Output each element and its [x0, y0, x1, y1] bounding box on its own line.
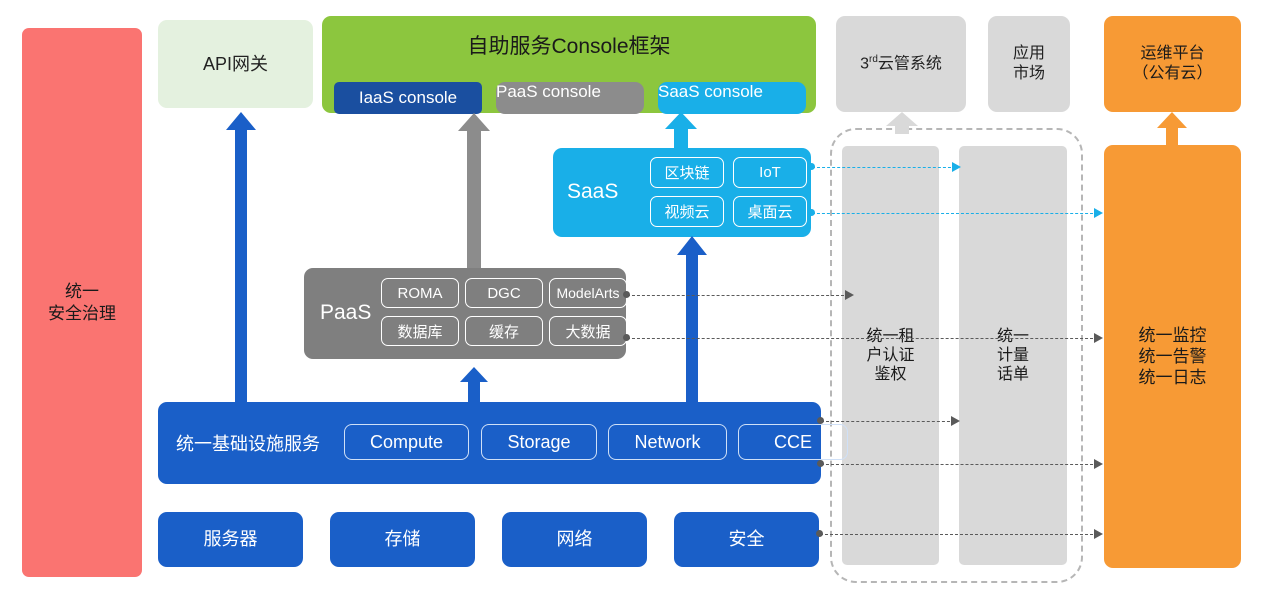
conn-arrow-paas-ops: [1094, 333, 1103, 343]
paas-chip-dgc[interactable]: DGC: [465, 278, 543, 308]
paas-chip-roma-label: ROMA: [398, 285, 443, 302]
app-market-box: 应用 市场: [988, 16, 1070, 112]
paas-console-label: PaaS console: [496, 82, 601, 101]
ops-panel-line3: 统一日志: [1139, 367, 1207, 388]
saas-chip-blockchain[interactable]: 区块链: [650, 157, 724, 188]
third-party-cloud-mgmt-box: 3rd云管系统: [836, 16, 966, 112]
paas-chip-bigdata[interactable]: 大数据: [549, 316, 627, 346]
console-framework-title: 自助服务Console框架: [322, 30, 816, 60]
ops-platform-top-line2: （公有云）: [1132, 64, 1212, 84]
unified-infrastructure-panel: 统一基础设施服务 Compute Storage Network CCE: [158, 402, 821, 484]
arrow-saas-to-console: [663, 112, 699, 150]
saas-chip-desktop-cloud[interactable]: 桌面云: [733, 196, 807, 227]
unified-metering-line1: 统一: [997, 327, 1029, 346]
ops-platform-top-box: 运维平台 （公有云）: [1104, 16, 1241, 112]
unified-infrastructure-label: 统一基础设施服务: [176, 430, 320, 456]
unified-metering-billing-column: 统一 计量 话单: [959, 146, 1067, 565]
infra-chip-compute-label: Compute: [370, 432, 443, 453]
hardware-server-label: 服务器: [204, 528, 258, 551]
security-governance-pillar: 统一 安全治理: [22, 28, 142, 577]
paas-chip-cache[interactable]: 缓存: [465, 316, 543, 346]
conn-line-infra-auth: [821, 421, 955, 422]
paas-chip-cache-label: 缓存: [489, 321, 519, 342]
conn-arrow-hw-ops: [1094, 529, 1103, 539]
unified-tenant-auth-column: 统一租 户认证 鉴权: [842, 146, 939, 565]
paas-chip-database[interactable]: 数据库: [381, 316, 459, 346]
security-governance-line1: 统一: [65, 281, 99, 302]
paas-chip-database-label: 数据库: [397, 321, 442, 342]
ops-unified-panel: 统一监控 统一告警 统一日志: [1104, 145, 1241, 568]
saas-console-button[interactable]: SaaS console: [658, 82, 806, 114]
arrow-paas-to-console: [456, 113, 492, 269]
arrow-infra-to-saas: [675, 236, 709, 405]
third-party-cloud-mgmt-label: 3rd云管系统: [860, 54, 942, 74]
infra-chip-cce[interactable]: CCE: [738, 424, 848, 460]
saas-chip-blockchain-label: 区块链: [664, 162, 709, 183]
paas-panel-label: PaaS: [320, 301, 371, 325]
unified-metering-line2: 计量: [997, 346, 1029, 365]
unified-tenant-auth-line1: 统一租: [866, 327, 914, 346]
paas-panel: PaaS ROMA DGC ModelArts 数据库 缓存 大数据: [304, 268, 626, 359]
hardware-box-network: 网络: [502, 512, 647, 567]
paas-chip-dgc-label: DGC: [487, 285, 520, 302]
api-gateway-label: API网关: [203, 53, 268, 76]
paas-chip-modelarts-label: ModelArts: [556, 285, 619, 301]
conn-line-hw-ops: [820, 534, 1098, 535]
hardware-box-server: 服务器: [158, 512, 303, 567]
unified-metering-line3: 话单: [997, 365, 1029, 384]
hardware-security-label: 安全: [729, 528, 765, 551]
saas-chip-iot-label: IoT: [759, 164, 781, 181]
conn-arrow-saas-auth: [952, 162, 961, 172]
api-gateway-box: API网关: [158, 20, 313, 108]
iaas-console-label: IaaS console: [359, 88, 457, 108]
paas-console-button[interactable]: PaaS console: [496, 82, 644, 114]
saas-chip-desktop-cloud-label: 桌面云: [747, 201, 792, 222]
saas-panel-label: SaaS: [567, 180, 618, 204]
conn-arrow-infra-ops: [1094, 459, 1103, 469]
unified-tenant-auth-line2: 户认证: [866, 346, 914, 365]
conn-line-infra-ops: [821, 464, 1098, 465]
conn-arrow-infra-auth: [951, 416, 960, 426]
saas-panel: SaaS 区块链 IoT 视频云 桌面云: [553, 148, 811, 237]
arrow-infra-to-paas: [458, 367, 490, 405]
conn-arrow-saas-ops: [1094, 208, 1103, 218]
paas-chip-bigdata-label: 大数据: [565, 321, 610, 342]
arrow-to-ops-platform: [1155, 112, 1189, 146]
ops-platform-top-line1: 运维平台: [1140, 44, 1204, 64]
arrow-infra-to-api-gateway: [224, 112, 258, 402]
infra-chip-storage-label: Storage: [507, 432, 570, 453]
infra-chip-storage[interactable]: Storage: [481, 424, 597, 460]
iaas-console-button[interactable]: IaaS console: [334, 82, 482, 114]
conn-arrow-paas-auth: [845, 290, 854, 300]
hardware-box-security: 安全: [674, 512, 819, 567]
conn-line-paas-auth: [627, 295, 849, 296]
security-governance-line2: 安全治理: [48, 303, 116, 324]
unified-tenant-auth-line3: 鉴权: [874, 365, 906, 384]
conn-line-saas-auth: [812, 167, 956, 168]
conn-line-saas-ops: [812, 213, 1098, 214]
paas-chip-modelarts[interactable]: ModelArts: [549, 278, 627, 308]
infra-chip-compute[interactable]: Compute: [344, 424, 469, 460]
saas-console-label: SaaS console: [658, 82, 763, 101]
architecture-diagram: 统一 安全治理 API网关 自助服务Console框架 IaaS console…: [0, 0, 1265, 605]
infra-chip-network-label: Network: [634, 432, 700, 453]
ops-panel-line1: 统一监控: [1139, 325, 1207, 346]
infra-chip-network[interactable]: Network: [608, 424, 727, 460]
saas-chip-iot[interactable]: IoT: [733, 157, 807, 188]
conn-line-paas-ops: [627, 338, 1098, 339]
saas-chip-video-cloud-label: 视频云: [664, 201, 709, 222]
app-market-line1: 应用: [1013, 44, 1045, 64]
hardware-storage-label: 存储: [385, 528, 421, 551]
infra-chip-cce-label: CCE: [774, 432, 812, 453]
paas-chip-roma[interactable]: ROMA: [381, 278, 459, 308]
arrow-to-third-party-cloud: [884, 112, 920, 134]
hardware-network-label: 网络: [557, 528, 593, 551]
console-framework-panel: 自助服务Console框架 IaaS console PaaS console …: [322, 16, 816, 113]
saas-chip-video-cloud[interactable]: 视频云: [650, 196, 724, 227]
hardware-box-storage: 存储: [330, 512, 475, 567]
app-market-line2: 市场: [1013, 64, 1045, 84]
ops-panel-line2: 统一告警: [1139, 346, 1207, 367]
